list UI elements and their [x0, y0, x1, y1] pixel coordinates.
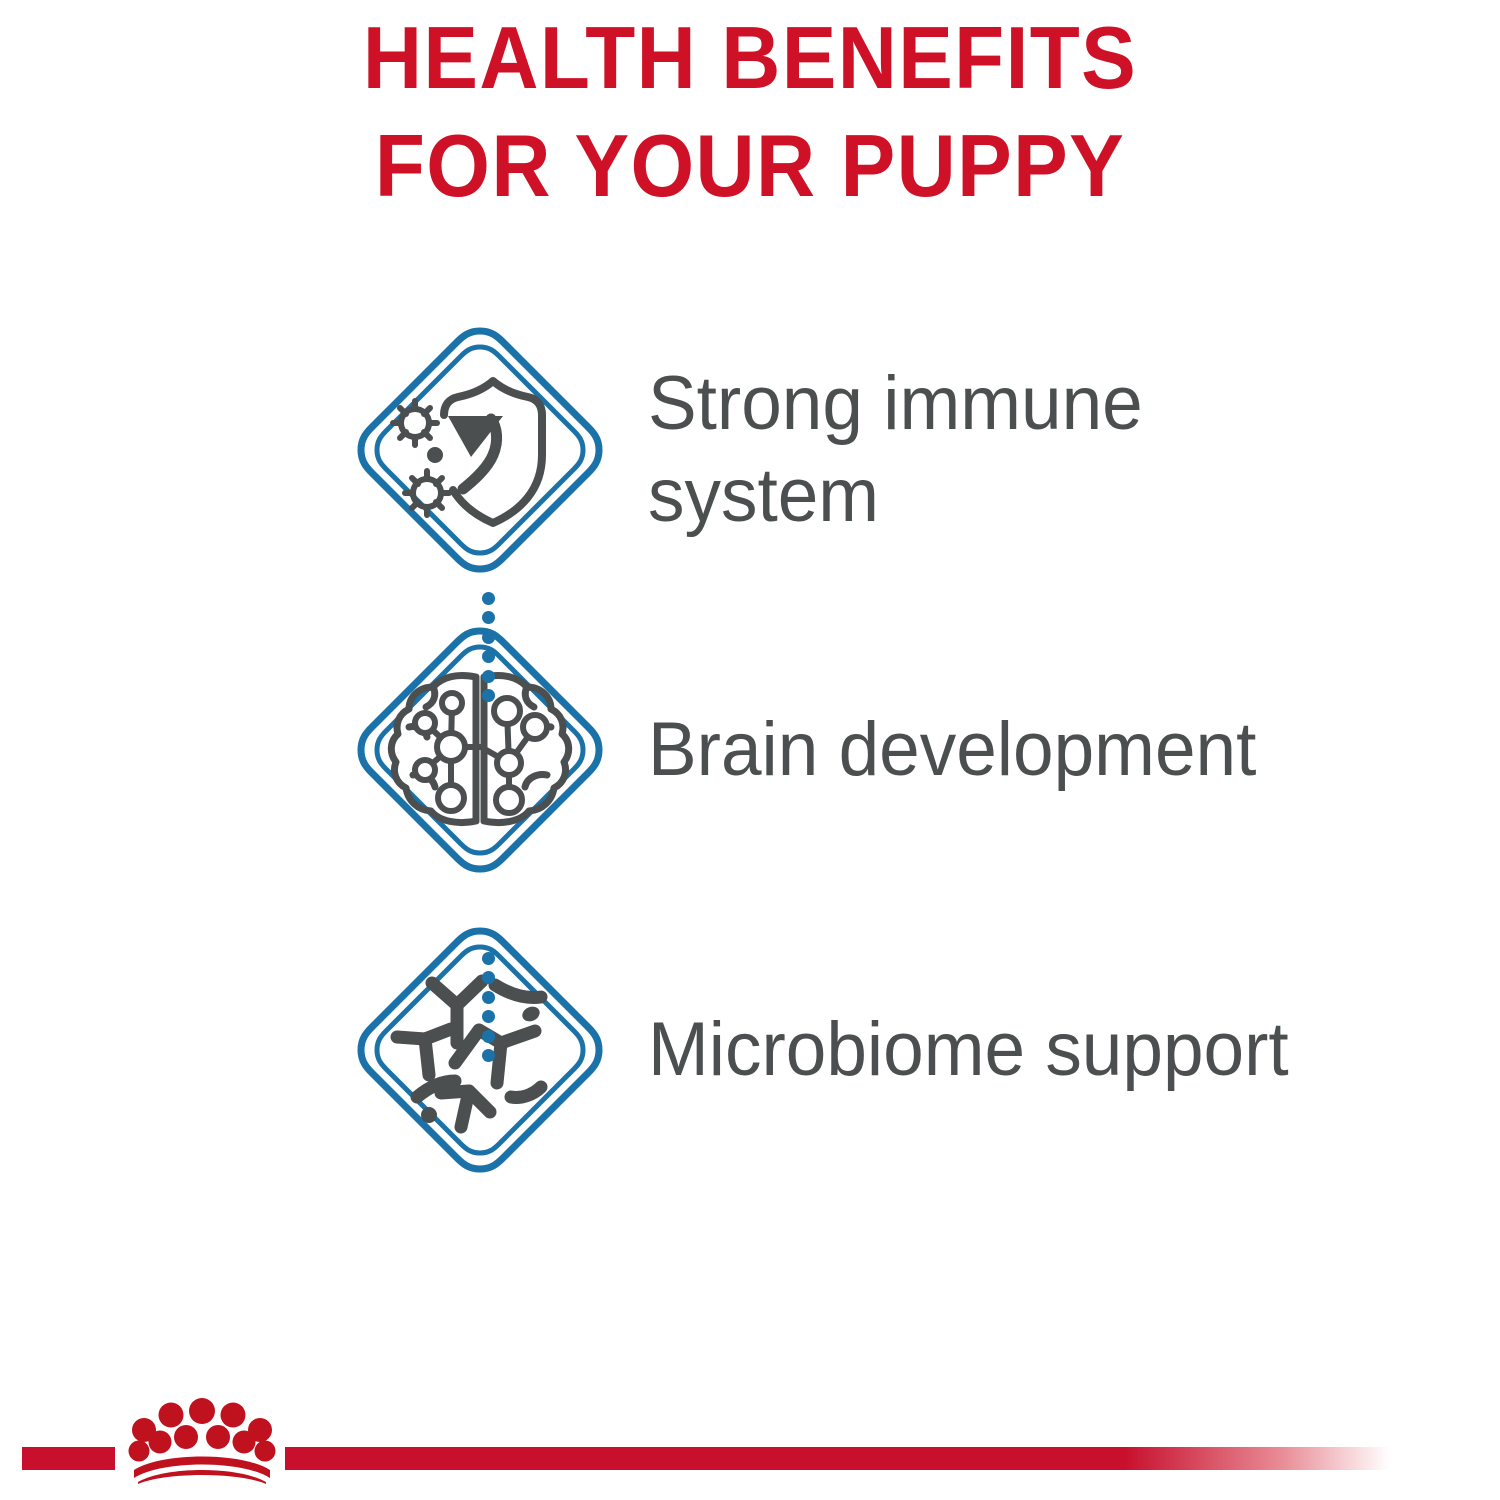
- benefit-label-microbiome-cell: Microbiome support: [630, 1004, 1500, 1096]
- benefit-row-brain: Brain development: [0, 600, 1500, 900]
- connector-dot: [482, 991, 495, 1004]
- benefit-label-immune: Strong immune system: [648, 358, 1447, 542]
- connector-immune-to-brain: [480, 592, 496, 702]
- title-line-1: HEALTH BENEFITS: [53, 4, 1448, 112]
- connector-dot: [482, 611, 495, 624]
- immune-shield-icon-svg: [345, 315, 615, 585]
- connector-dot: [482, 631, 495, 644]
- connector-dot: [482, 592, 495, 605]
- connector-dot: [482, 670, 495, 683]
- connector-dot: [482, 1049, 495, 1062]
- immune-shield-icon: [330, 300, 630, 600]
- connector-brain-to-microbiome: [480, 952, 496, 1062]
- benefit-label-brain: Brain development: [648, 704, 1447, 796]
- benefit-label-immune-line1: Strong immune: [648, 361, 1143, 446]
- connector-dot: [482, 689, 495, 702]
- benefit-label-brain-cell: Brain development: [630, 704, 1500, 796]
- connector-dot: [482, 1010, 495, 1023]
- title-line-2: FOR YOUR PUPPY: [53, 112, 1448, 220]
- connector-dot: [482, 1030, 495, 1043]
- benefits-list: Strong immune system: [0, 300, 1500, 1200]
- connector-dot: [482, 952, 495, 965]
- crown-icon: [122, 1398, 282, 1484]
- benefit-label-microbiome: Microbiome support: [648, 1004, 1447, 1096]
- connector-dot: [482, 971, 495, 984]
- brand-bar-left: [22, 1447, 115, 1470]
- benefit-row-microbiome: Microbiome support: [0, 900, 1500, 1200]
- benefit-label-immune-line2: system: [648, 450, 1447, 542]
- benefit-label-immune-cell: Strong immune system: [630, 358, 1500, 542]
- royal-canin-crown-logo: [122, 1398, 282, 1484]
- brand-bar-right: [285, 1447, 1390, 1470]
- connector-dot: [482, 650, 495, 663]
- benefit-row-immune: Strong immune system: [0, 300, 1500, 600]
- page-title: HEALTH BENEFITS FOR YOUR PUPPY: [0, 4, 1500, 220]
